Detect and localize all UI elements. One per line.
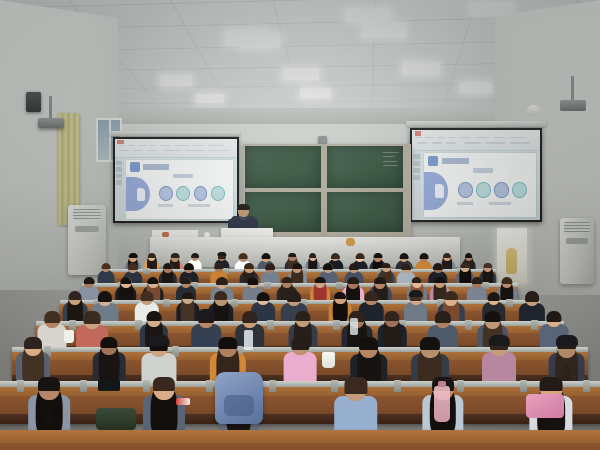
right-screen-surface (412, 130, 540, 220)
ac-panel-right (566, 238, 588, 244)
student-hair (147, 311, 162, 320)
screen-roller-right (406, 121, 546, 127)
student-hair (242, 311, 258, 322)
slide-circle-1-right (458, 182, 472, 198)
student-hair (69, 291, 82, 299)
student-hair (384, 311, 399, 320)
board-panel-2 (327, 146, 403, 188)
desk-rail-post (267, 320, 274, 330)
student-cap (148, 335, 169, 346)
ac-vent-left (73, 209, 102, 220)
student-hair (465, 253, 473, 258)
slide-circle-3-right (494, 182, 508, 198)
ppt-slide-panel-right[interactable] (412, 150, 421, 220)
thumbs-up-icon-right (435, 184, 444, 198)
student-hair (292, 337, 309, 350)
board-panel-4 (327, 192, 403, 232)
student-hair (359, 337, 379, 349)
projector-icon-left (38, 118, 64, 128)
slide-caption-1-left (158, 204, 173, 207)
student-hair (101, 263, 110, 269)
projector-mount-pole-left (49, 96, 52, 120)
student-hair (400, 253, 409, 259)
student-hair (433, 263, 443, 270)
blue-backpack (215, 372, 263, 424)
student-hair (349, 263, 359, 270)
student-hair (412, 277, 423, 284)
student-hair (355, 253, 364, 259)
student-hair (24, 337, 42, 348)
slide-circle-3-left (194, 186, 208, 201)
student-hair (214, 263, 223, 270)
student-hair (265, 263, 275, 270)
student-hair (315, 277, 326, 284)
student-cap (489, 335, 509, 345)
desk-rail-post (531, 320, 538, 330)
student-hair (287, 291, 301, 301)
ppt-ribbon-right (412, 130, 540, 151)
desk-row (0, 384, 600, 424)
student-hair (444, 291, 458, 300)
ppt-toolbar-row-left (117, 145, 234, 146)
student-hair (374, 277, 386, 284)
student-hair (153, 377, 175, 391)
slide-canvas-left (126, 160, 233, 219)
bottle-cap (438, 381, 447, 387)
water-bottle-small-2 (350, 318, 358, 335)
air-conditioner-right (560, 218, 594, 284)
student-hair (435, 277, 446, 284)
student-hair (148, 277, 159, 284)
student-hair (140, 291, 153, 300)
desk-rail-post (465, 320, 472, 330)
slide-circle-4-left (211, 186, 225, 201)
student-hair (181, 292, 193, 300)
student-hair (44, 311, 60, 322)
student-cap (217, 252, 226, 257)
student-hair (191, 253, 199, 259)
presenter-hair (237, 204, 250, 210)
ppt-toolbar-row-right (415, 137, 538, 138)
slide-caption-2-left (188, 204, 209, 207)
desk-rail-post (69, 320, 76, 330)
student-hair (525, 291, 539, 301)
ppt-toolbar-row2-right (415, 142, 538, 143)
student-hair (547, 311, 562, 322)
screen-roller-left (110, 131, 240, 136)
desk-front (0, 414, 600, 424)
student-hair (180, 277, 191, 285)
student-hair (540, 377, 563, 391)
phone-on-desk (98, 380, 120, 391)
water-bottle-small (244, 330, 253, 350)
student-hair (420, 337, 440, 350)
ppt-ribbon-left (115, 139, 237, 158)
student-hair (239, 253, 248, 259)
pink-pouch (526, 394, 564, 418)
student-hair (435, 311, 451, 323)
classroom-camera-icon (318, 136, 327, 144)
thumbs-up-icon-left (137, 188, 146, 201)
desk-rail-post (333, 320, 340, 330)
ac-vent-right (564, 222, 590, 233)
student-hair (401, 263, 411, 270)
student-torso (284, 352, 317, 385)
slide-circle-4-right (512, 182, 526, 198)
student-hair (100, 337, 117, 348)
left-screen-surface (115, 139, 237, 221)
student-cap (197, 309, 215, 318)
student-hair (184, 263, 194, 270)
student-hair (289, 253, 297, 258)
paper-cup-2 (64, 330, 74, 343)
student-hair (38, 377, 60, 391)
student-hair (483, 263, 492, 269)
slide-canvas-right (424, 153, 537, 218)
desk-rail-post (520, 380, 527, 392)
student-hair (84, 311, 101, 323)
student-hair (484, 311, 501, 322)
slide-title-text-left (143, 164, 186, 170)
desk-rail-post (206, 380, 213, 392)
slide-title-icon-left (130, 162, 140, 171)
desk-rail-post (143, 268, 150, 274)
slide-caption-2-right (489, 202, 512, 205)
blackboard (243, 144, 411, 240)
ppt-file-tab-left[interactable] (117, 140, 123, 144)
student-hair (84, 277, 95, 285)
ppt-slide-panel-left[interactable] (115, 157, 124, 221)
student-hair (344, 377, 367, 394)
student-hair (261, 253, 270, 260)
student-hair (471, 277, 482, 285)
desk-row (0, 430, 600, 450)
slide-caption-1-right (457, 202, 473, 205)
podium-object-amber (346, 238, 355, 246)
student-hair (461, 263, 470, 269)
student-hair (244, 263, 254, 269)
student-cap (408, 290, 422, 297)
student-hair (373, 253, 382, 259)
student-hair (292, 263, 302, 269)
board-divider-v (321, 144, 327, 236)
projector-icon-right (560, 100, 586, 111)
doorway-poster-figure (506, 248, 517, 274)
desk-rail-post (506, 299, 513, 307)
paper-cup (322, 352, 335, 368)
student-hair (98, 291, 112, 301)
slide-circle-2-right (476, 182, 490, 198)
slide-title-text-right (442, 158, 487, 164)
student-hair (331, 253, 339, 259)
student-hair (129, 253, 138, 258)
green-pencil-case (96, 408, 136, 430)
student-hair (419, 253, 428, 259)
pink-water-bottle (434, 386, 450, 422)
slide-title-icon-right (428, 156, 438, 166)
slide-circle-2-left (176, 186, 190, 201)
desk-small-item-red (176, 398, 190, 405)
student-hair (216, 277, 228, 286)
student-hair (334, 292, 346, 300)
student-hair (309, 253, 317, 258)
ppt-file-tab-right[interactable] (415, 131, 421, 135)
student-hair (295, 311, 310, 321)
left-projection-screen[interactable] (113, 137, 239, 223)
dome-camera-icon (527, 105, 540, 116)
slide-circle-1-left (159, 186, 173, 201)
student-hair (501, 277, 512, 284)
desk-surface (0, 430, 600, 443)
ac-panel-left (75, 226, 99, 232)
student-hair (382, 263, 391, 269)
student-hair (487, 292, 499, 301)
desk-rail-post (80, 380, 87, 392)
desk-rail-post (394, 380, 401, 392)
slide-subtitle-right (473, 168, 493, 173)
ppt-toolbar-row2-left (117, 150, 234, 151)
student-hair (248, 277, 259, 285)
backpack-pocket (224, 395, 255, 416)
lecture-hall-photo (0, 0, 600, 450)
podium-object-red (162, 232, 169, 237)
student-cap (556, 335, 578, 346)
right-projection-screen[interactable] (410, 128, 542, 222)
desk-rail-post (583, 380, 590, 392)
student-hair (365, 291, 378, 301)
student-hair (120, 277, 131, 284)
student-hair (323, 263, 333, 270)
student-hair (443, 253, 451, 258)
podium-object-white (204, 232, 210, 238)
board-panel-1 (245, 146, 321, 188)
student-hair (163, 263, 173, 269)
student-hair (348, 277, 360, 284)
student-hair (214, 291, 228, 299)
student-hair (218, 337, 237, 349)
desk-rail-post (264, 282, 271, 289)
desk-rail-post (17, 380, 24, 392)
desk-rail-post (269, 380, 276, 392)
bright-doorway (497, 228, 527, 284)
student-hair (171, 253, 180, 258)
student-hair (257, 292, 270, 301)
wall-speaker-icon (26, 92, 41, 112)
projector-mount-pole-right (571, 76, 574, 102)
desk-rail (0, 381, 600, 387)
student-hair (128, 263, 138, 270)
student-hair (282, 277, 293, 284)
desk-rail-post (163, 299, 170, 307)
student-hair (147, 253, 155, 258)
slide-subtitle-left (173, 174, 192, 178)
